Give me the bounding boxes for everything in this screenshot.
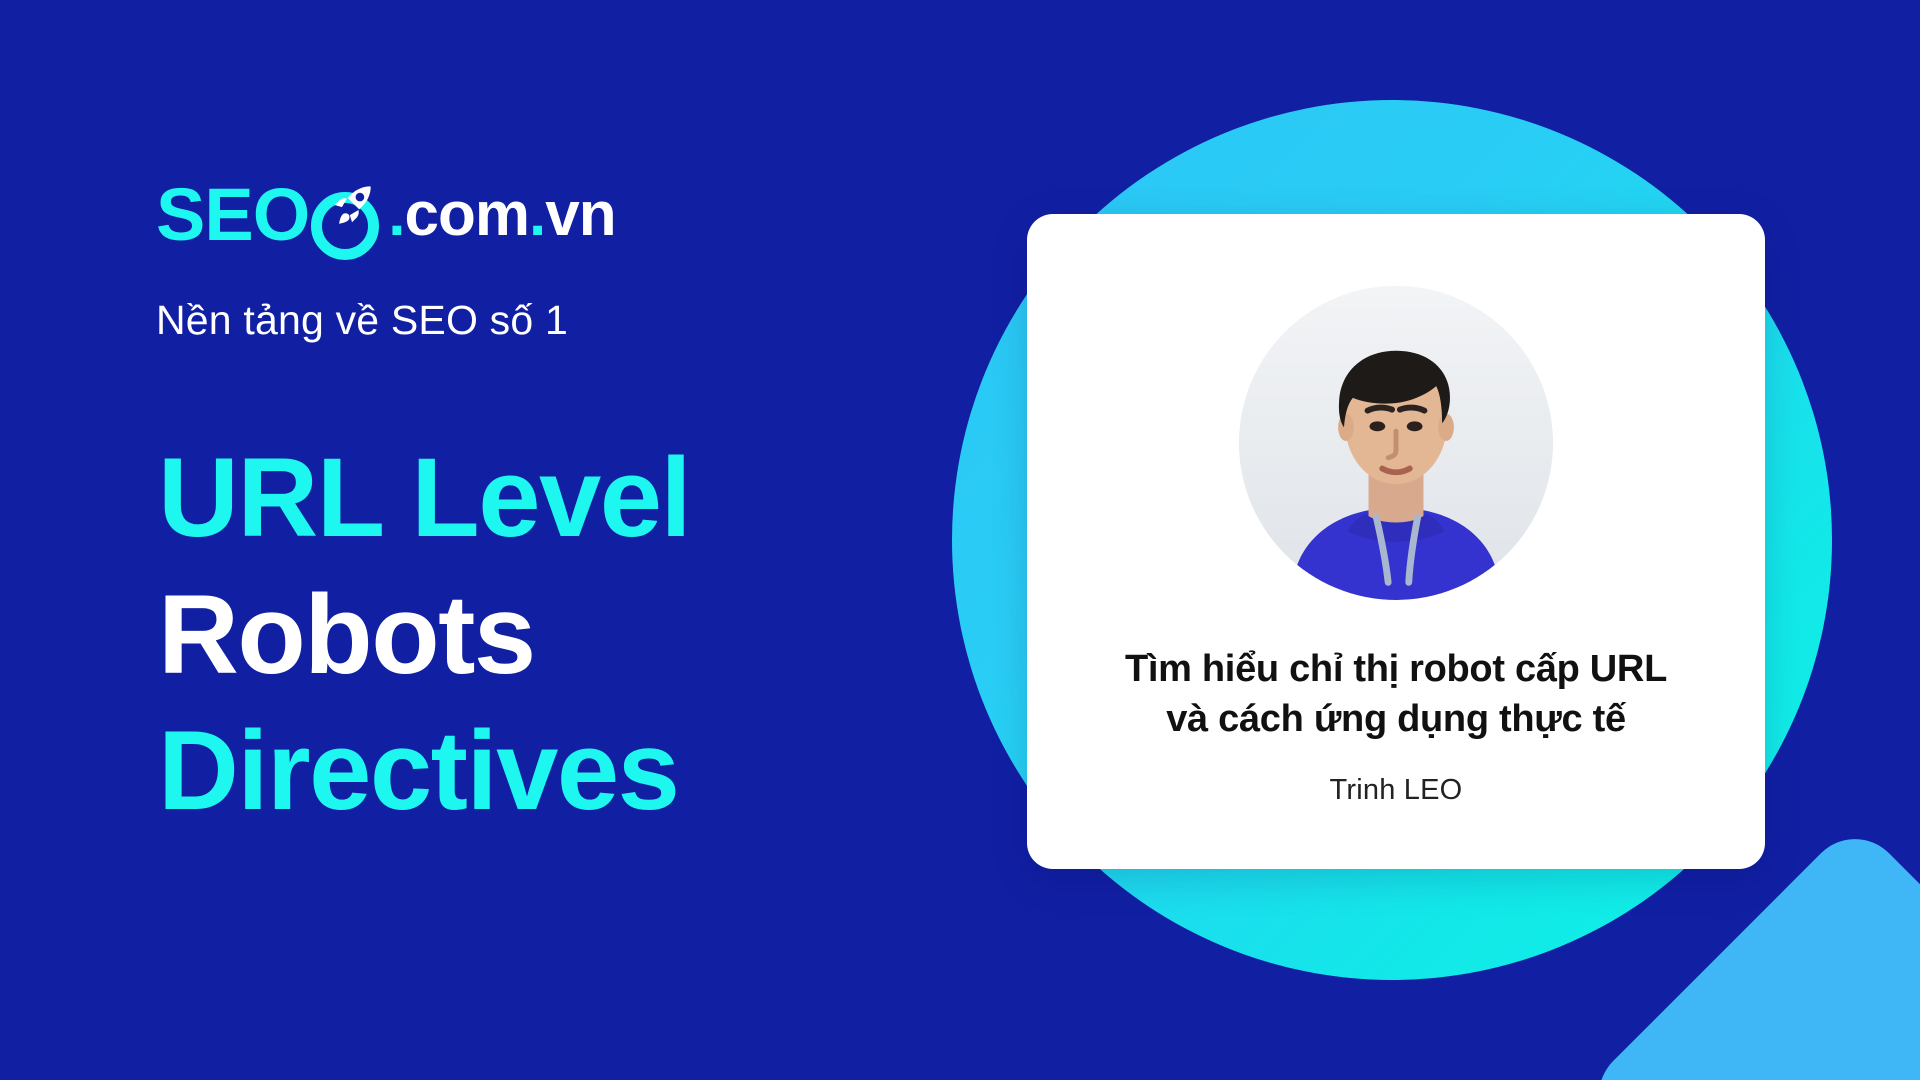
logo-text-seo: SEO — [156, 178, 309, 252]
headline-line-2: Robots — [158, 567, 878, 704]
headline-line-1: URL Level — [158, 430, 878, 567]
card-title-line-2: và cách ứng dụng thực tế — [1066, 694, 1726, 744]
card-title-line-1: Tìm hiểu chỉ thị robot cấp URL — [1066, 644, 1726, 694]
logo-o-with-rocket — [311, 186, 369, 244]
brand-tagline: Nền tảng về SEO số 1 — [156, 297, 568, 344]
logo-text-vn: vn — [545, 180, 615, 249]
card-author-name: Trinh LEO — [1330, 774, 1463, 807]
slide-canvas: SEO .com.vn Nền tảng về SEO số 1 URL Lev… — [0, 0, 1920, 1080]
headline-line-3: Directives — [158, 703, 878, 840]
logo-dot-1: . — [388, 180, 404, 249]
avatar-photo — [1239, 286, 1553, 600]
rocket-icon — [329, 182, 375, 228]
left-content-column: SEO .com.vn Nền tảng về SEO số 1 URL Lev… — [0, 0, 900, 1080]
speaker-card: Tìm hiểu chỉ thị robot cấp URL và cách ứ… — [1027, 214, 1765, 869]
logo-text-com: com — [405, 180, 529, 249]
avatar — [1239, 286, 1553, 600]
page-title: URL Level Robots Directives — [158, 430, 878, 840]
logo-dot-2: . — [529, 180, 545, 249]
logo-text-tld: .com.vn — [388, 184, 615, 246]
seo-com-vn-logo[interactable]: SEO .com.vn — [156, 178, 616, 252]
card-title: Tìm hiểu chỉ thị robot cấp URL và cách ứ… — [1066, 644, 1726, 744]
